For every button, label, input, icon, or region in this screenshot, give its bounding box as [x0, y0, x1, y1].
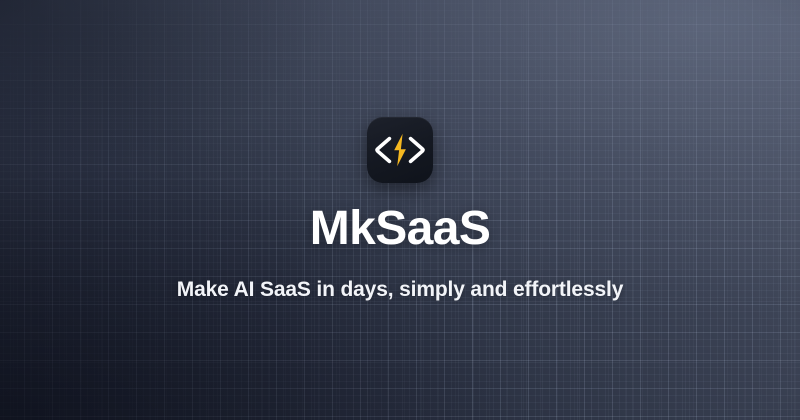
- brand-logo: [367, 117, 433, 183]
- code-brackets-lightning-bolt-icon: [374, 133, 426, 167]
- og-brand-card: MkSaaS Make AI SaaS in days, simply and …: [0, 0, 800, 420]
- page-tagline: Make AI SaaS in days, simply and effortl…: [177, 277, 623, 302]
- hero-content: MkSaaS Make AI SaaS in days, simply and …: [0, 0, 800, 420]
- page-title: MkSaaS: [310, 205, 491, 253]
